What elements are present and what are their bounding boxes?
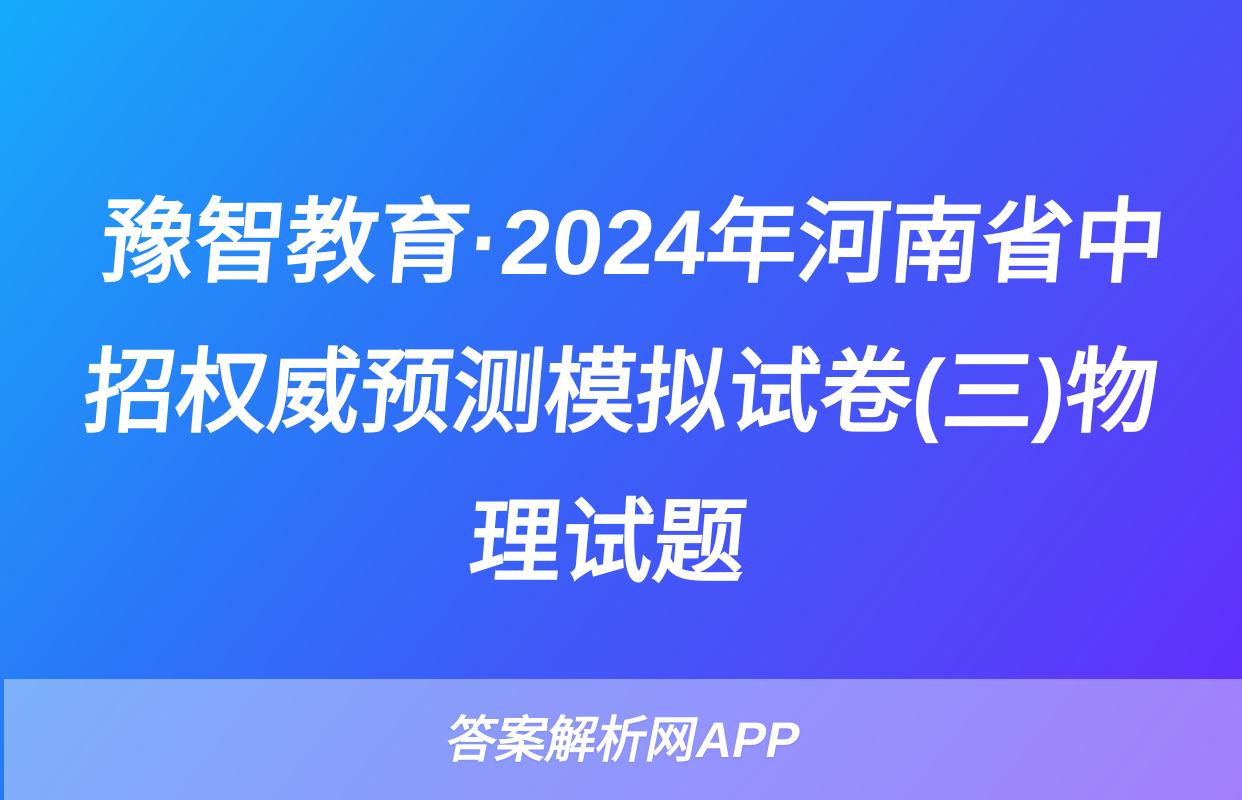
banner-canvas: 豫智教育·2024年河南省中招权威预测模拟试卷(三)物理试题 答案解析网APP [0,0,1242,800]
page-title: 豫智教育·2024年河南省中招权威预测模拟试卷(三)物理试题 [60,168,1181,618]
title-block: 豫智教育·2024年河南省中招权威预测模拟试卷(三)物理试题 [80,168,1162,618]
watermark-label: 答案解析网APP [442,715,805,765]
watermark-band: 答案解析网APP [4,679,1242,800]
